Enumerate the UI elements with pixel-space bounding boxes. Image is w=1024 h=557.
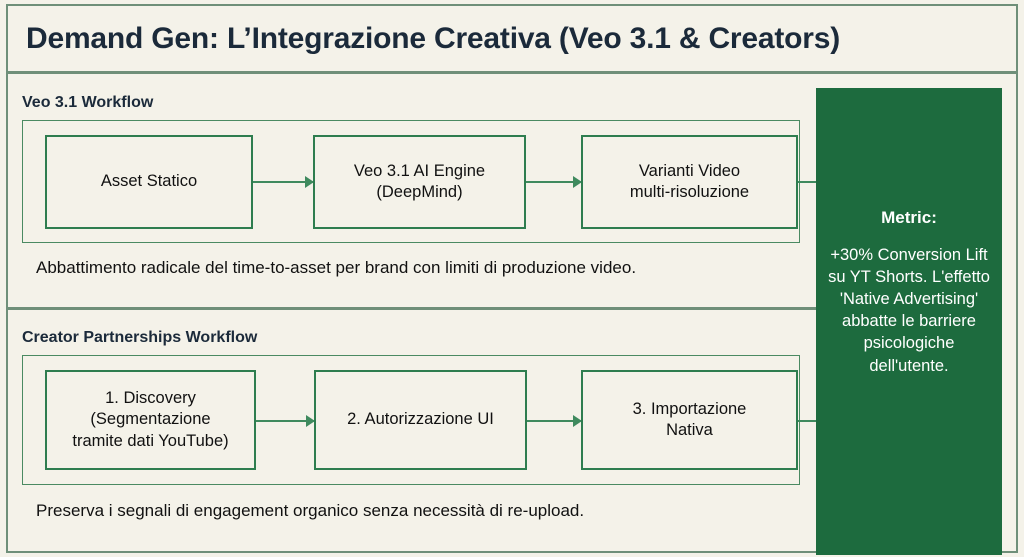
- metric-panel-title: Metric:: [881, 208, 937, 228]
- flow-node-varianti-video[interactable]: Varianti Videomulti-risoluzione: [581, 135, 798, 229]
- section-caption-creator: Preserva i segnali di engagement organic…: [36, 501, 584, 521]
- section-creator-workflow: Creator Partnerships Workflow 1. Discove…: [8, 313, 816, 553]
- title-bar: Demand Gen: L’Integrazione Creativa (Veo…: [8, 6, 1016, 74]
- flow-node-asset-statico[interactable]: Asset Statico: [45, 135, 253, 229]
- flow-node-discovery[interactable]: 1. Discovery(Segmentazionetramite dati Y…: [45, 370, 256, 470]
- section-heading-veo: Veo 3.1 Workflow: [22, 94, 153, 112]
- page-title: Demand Gen: L’Integrazione Creativa (Veo…: [26, 22, 840, 56]
- connector-arrow-3: [256, 420, 314, 422]
- section-caption-veo: Abbattimento radicale del time-to-asset …: [36, 258, 636, 278]
- flow-row-creator: 1. Discovery(Segmentazionetramite dati Y…: [23, 356, 799, 484]
- flow-group-veo: Asset Statico Veo 3.1 AI Engine(DeepMind…: [22, 120, 800, 243]
- flow-node-importazione-nativa[interactable]: 3. ImportazioneNativa: [581, 370, 798, 470]
- connector-arrow-4: [527, 420, 581, 422]
- flow-node-autorizzazione-ui[interactable]: 2. Autorizzazione UI: [314, 370, 527, 470]
- slide-canvas: Demand Gen: L’Integrazione Creativa (Veo…: [0, 0, 1024, 557]
- flow-group-creator: 1. Discovery(Segmentazionetramite dati Y…: [22, 355, 800, 485]
- section-veo-workflow: Veo 3.1 Workflow Asset Statico Veo 3.1 A…: [8, 78, 816, 310]
- flow-row-veo: Asset Statico Veo 3.1 AI Engine(DeepMind…: [23, 121, 799, 242]
- section-heading-creator: Creator Partnerships Workflow: [22, 329, 257, 347]
- metric-panel-body: +30% Conversion Lift su YT Shorts. L'eff…: [824, 244, 994, 377]
- metric-panel: Metric: +30% Conversion Lift su YT Short…: [816, 88, 1002, 555]
- flow-node-veo-ai-engine[interactable]: Veo 3.1 AI Engine(DeepMind): [313, 135, 526, 229]
- connector-arrow-1: [253, 181, 313, 183]
- connector-arrow-2: [526, 181, 581, 183]
